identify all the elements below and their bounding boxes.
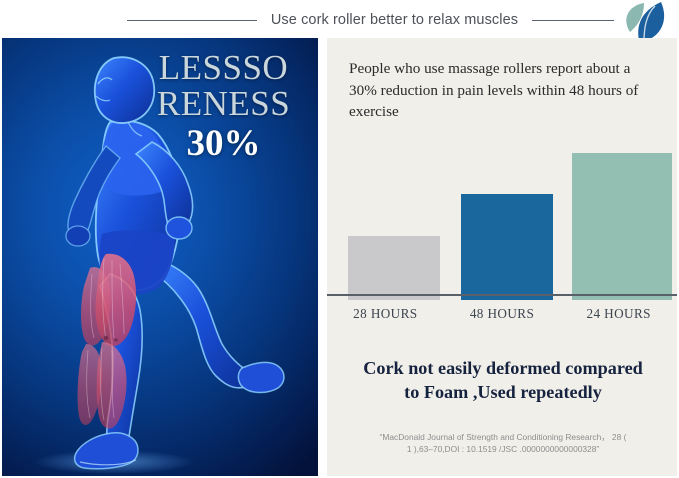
page-header: Use cork roller better to relax muscles <box>0 0 679 40</box>
page-title: Use cork roller better to relax muscles <box>271 12 518 28</box>
chart-label-2: 24 HOURS <box>560 306 677 332</box>
bar-chart <box>327 138 677 306</box>
header-rule-right <box>532 20 614 21</box>
chart-label-0: 28 HOURS <box>327 306 444 332</box>
chart-bars <box>327 140 677 300</box>
chart-baseline-axis <box>327 294 677 296</box>
running-man-anatomy-illustration <box>2 38 318 476</box>
headline-line-2: to Foam ,Used repeatedly <box>339 380 667 404</box>
header-rule-left <box>127 20 257 21</box>
intro-paragraph: People who use massage rollers report ab… <box>349 58 661 123</box>
two-leaf-logo-icon <box>611 0 673 42</box>
citation-line-1: “MacDonald Journal of Strength and Condi… <box>343 431 663 443</box>
info-panel: People who use massage rollers report ab… <box>327 38 677 476</box>
bar-48-hours <box>461 194 553 300</box>
chart-label-1: 48 HOURS <box>444 306 561 332</box>
citation-line-2: 1 ),63–70,DOI : 10.1519 /JSC .0000000000… <box>343 443 663 455</box>
headline-line-1: Cork not easily deformed compared <box>339 356 667 380</box>
citation-text: “MacDonald Journal of Strength and Condi… <box>343 431 663 455</box>
headline-text: Cork not easily deformed compared to Foa… <box>339 356 667 404</box>
runner-image-panel: LESSSO RENESS 30% <box>2 38 318 476</box>
chart-category-labels: 28 HOURS 48 HOURS 24 HOURS <box>327 306 677 332</box>
bar-24-hours <box>572 153 672 300</box>
bar-28-hours <box>348 236 440 300</box>
